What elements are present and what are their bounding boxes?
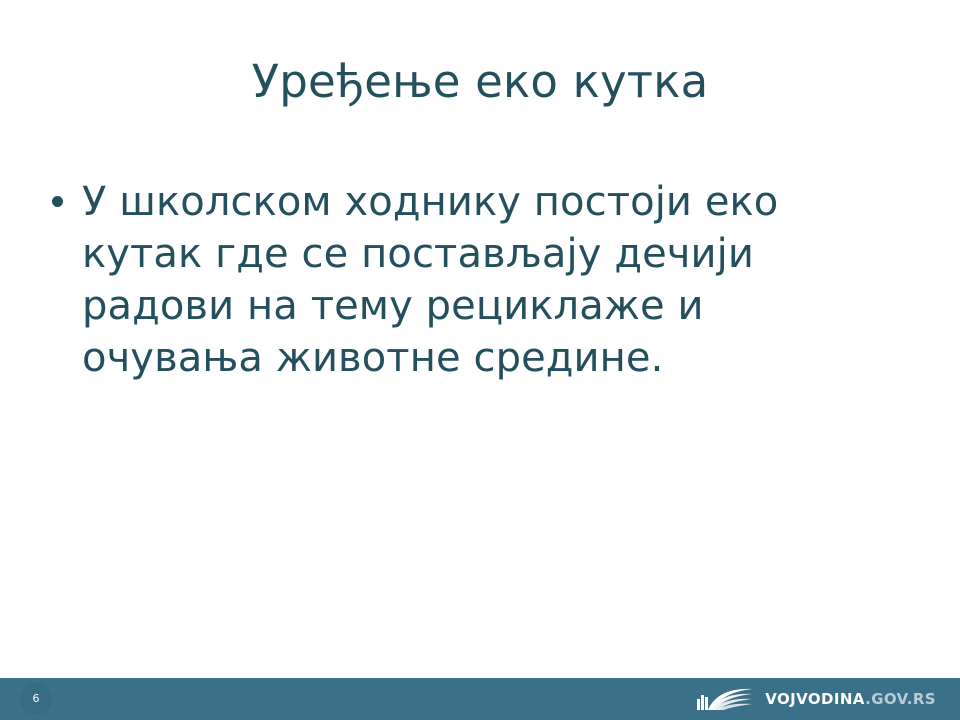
list-item: У школском ходнику постоји еко кутак где…: [52, 176, 872, 384]
page-title: Уређење еко кутка: [252, 58, 709, 105]
bullet-dot-icon: [52, 196, 63, 207]
slide-footer-bar: 6 VOJVODINA.GOV.RS: [0, 678, 960, 720]
slide-title-block: Уређење еко кутка: [0, 58, 960, 105]
bullet-text: У школском ходнику постоји еко кутак где…: [82, 176, 827, 384]
slide-number-badge: 6: [20, 683, 52, 715]
presentation-slide: Уређење еко кутка У школском ходнику пос…: [0, 0, 960, 720]
slide-body-block: У школском ходнику постоји еко кутак где…: [52, 176, 872, 384]
vojvodina-building-wave-logo-icon: [696, 686, 754, 712]
brand-tld: .GOV.RS: [865, 690, 936, 708]
brand-text: VOJVODINA.GOV.RS: [765, 690, 936, 708]
brand-lockup: VOJVODINA.GOV.RS: [696, 678, 936, 720]
brand-name: VOJVODINA: [765, 690, 865, 708]
bullet-marker: [52, 176, 82, 207]
